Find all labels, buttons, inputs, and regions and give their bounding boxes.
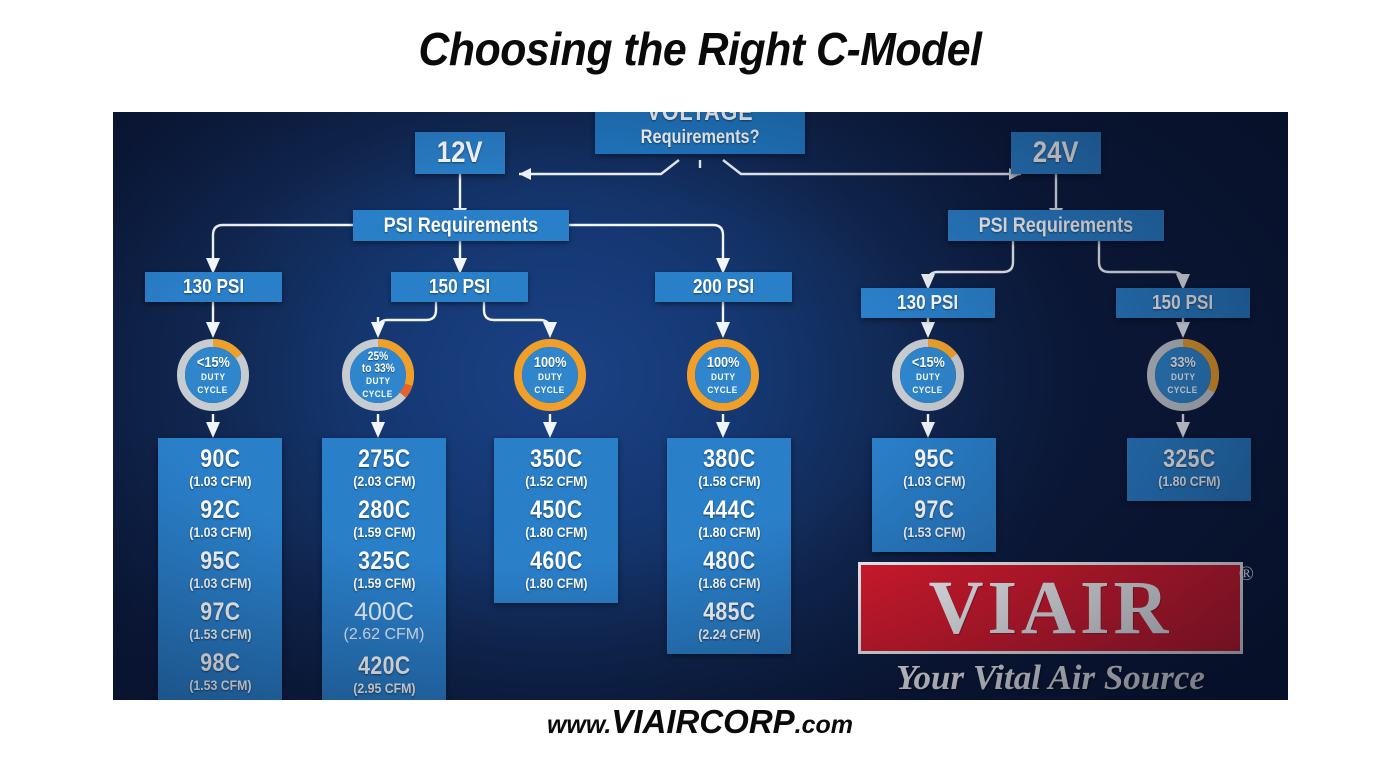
model-cfm: (1.59 CFM): [353, 575, 415, 591]
model-cfm: (1.80 CFM): [525, 524, 587, 540]
model-cfm: (1.03 CFM): [189, 473, 251, 489]
model-name: 95C: [190, 549, 250, 574]
model-name: 90C: [190, 447, 250, 472]
voltage-title: VOLTAGE: [647, 112, 754, 125]
model-cfm: (2.24 CFM): [698, 626, 760, 642]
model-list-200-12v: 380C (1.58 CFM) 444C (1.80 CFM) 480C (1.…: [667, 438, 791, 654]
duty-label-2: CYCLE: [913, 386, 943, 396]
model-name: 400C: [344, 600, 425, 625]
viair-logo: VIAIR ® Your Vital Air Source: [858, 562, 1258, 700]
model-cfm: (1.80 CFM): [1158, 473, 1220, 489]
model-name: 280C: [354, 498, 414, 523]
model-cfm: (1.80 CFM): [525, 575, 587, 591]
model-list-130-24v: 95C (1.03 CFM) 97C (1.53 CFM): [872, 438, 996, 552]
duty-label-1: DUTY: [366, 377, 390, 387]
model-cfm: (1.03 CFM): [903, 473, 965, 489]
duty-percent: 33%: [1170, 355, 1196, 370]
model-cfm: (1.03 CFM): [189, 524, 251, 540]
footer-www: www.: [547, 711, 611, 739]
model-item[interactable]: 450C (1.80 CFM): [521, 498, 592, 540]
model-item[interactable]: 325C (1.59 CFM): [349, 549, 420, 591]
psi-150-24v-label: 150 PSI: [1152, 293, 1213, 313]
logo-red-box: VIAIR ®: [858, 562, 1243, 654]
psi-130-24v-label: 130 PSI: [897, 293, 958, 313]
duty-percent: <15%: [197, 355, 230, 370]
duty-percent: 100%: [707, 355, 740, 370]
duty-inner: 33% DUTY CYCLE: [1155, 347, 1211, 403]
model-name: 450C: [526, 498, 586, 523]
psi-requirements-12v-label: PSI Requirements: [384, 215, 539, 236]
model-cfm: (1.03 CFM): [189, 575, 251, 591]
model-cfm: (2.62 CFM): [344, 626, 425, 644]
model-item[interactable]: 350C (1.52 CFM): [521, 447, 592, 489]
model-cfm: (1.58 CFM): [698, 473, 760, 489]
model-name: 460C: [526, 549, 586, 574]
model-name: 97C: [904, 498, 964, 523]
duty-label-1: DUTY: [916, 373, 940, 383]
model-item[interactable]: 275C (2.03 CFM): [349, 447, 420, 489]
logo-tagline: Your Vital Air Source: [858, 658, 1243, 698]
model-item[interactable]: 325C (1.80 CFM): [1154, 447, 1225, 489]
model-name: 480C: [699, 549, 759, 574]
psi-requirements-24v-label: PSI Requirements: [979, 215, 1134, 236]
model-cfm: (1.52 CFM): [525, 473, 587, 489]
model-name: 444C: [699, 498, 759, 523]
model-cfm: (1.86 CFM): [698, 575, 760, 591]
model-item[interactable]: 95C (1.03 CFM): [185, 549, 256, 591]
duty-inner: 100% DUTY CYCLE: [695, 347, 751, 403]
psi-130-24v[interactable]: 130 PSI: [861, 288, 995, 318]
model-name: 380C: [699, 447, 759, 472]
duty-cycle-150-12v: 25% to 33% DUTY CYCLE: [341, 338, 415, 412]
model-item[interactable]: 420C (2.95 CFM): [349, 654, 420, 696]
model-name: 275C: [354, 447, 414, 472]
model-cfm: (1.59 CFM): [353, 524, 415, 540]
model-item[interactable]: 460C (1.80 CFM): [521, 549, 592, 591]
model-list-150b-12v: 350C (1.52 CFM) 450C (1.80 CFM) 460C (1.…: [494, 438, 618, 603]
model-item[interactable]: 95C (1.03 CFM): [899, 447, 970, 489]
model-cfm: (2.95 CFM): [353, 680, 415, 696]
psi-150-12v-label: 150 PSI: [429, 277, 490, 297]
psi-requirements-24v[interactable]: PSI Requirements: [948, 210, 1164, 241]
model-item[interactable]: 485C (2.24 CFM): [694, 600, 765, 642]
model-name: 325C: [354, 549, 414, 574]
logo-wordmark: VIAIR: [929, 570, 1173, 646]
registered-trademark-icon: ®: [1239, 563, 1254, 586]
node-12v-label: 12V: [437, 138, 483, 168]
model-name: 325C: [1159, 447, 1219, 472]
duty-percent: 100%: [534, 355, 567, 370]
psi-130-12v-label: 130 PSI: [183, 277, 244, 297]
model-item[interactable]: 380C (1.58 CFM): [694, 447, 765, 489]
duty-label-2: CYCLE: [708, 386, 738, 396]
page-title: Choosing the Right C-Model: [49, 22, 1351, 76]
duty-cycle-150-24v: 33% DUTY CYCLE: [1146, 338, 1220, 412]
model-item[interactable]: 480C (1.86 CFM): [694, 549, 765, 591]
voltage-requirements-box[interactable]: VOLTAGE Requirements?: [595, 112, 805, 154]
duty-label-2: CYCLE: [363, 390, 393, 400]
duty-label-1: DUTY: [711, 373, 735, 383]
model-list-150-12v: 275C (2.03 CFM) 280C (1.59 CFM) 325C (1.…: [322, 438, 446, 700]
footer-domain: VIAIRCORP: [611, 703, 794, 740]
node-12v[interactable]: 12V: [415, 132, 505, 174]
duty-cycle-200-12v: 100% DUTY CYCLE: [686, 338, 760, 412]
duty-inner: 100% DUTY CYCLE: [522, 347, 578, 403]
psi-150-24v[interactable]: 150 PSI: [1116, 288, 1250, 318]
duty-inner: 25% to 33% DUTY CYCLE: [350, 347, 406, 403]
psi-150-12v[interactable]: 150 PSI: [391, 272, 528, 302]
duty-percent: <15%: [912, 355, 945, 370]
model-item[interactable]: 98C (1.53 CFM): [185, 651, 256, 693]
model-name: 97C: [190, 600, 250, 625]
model-cfm: (2.03 CFM): [353, 473, 415, 489]
model-cfm: (1.53 CFM): [189, 626, 251, 642]
model-item[interactable]: 97C (1.53 CFM): [185, 600, 256, 642]
flowchart-panel: VOLTAGE Requirements? 12V 24V PSI Requir…: [113, 112, 1288, 700]
model-name: 98C: [190, 651, 250, 676]
duty-label-2: CYCLE: [535, 386, 565, 396]
footer-tld: .com: [795, 711, 853, 739]
model-name: 485C: [699, 600, 759, 625]
duty-inner: <15% DUTY CYCLE: [900, 347, 956, 403]
psi-200-12v-label: 200 PSI: [693, 277, 754, 297]
duty-label-1: DUTY: [538, 373, 562, 383]
model-item[interactable]: 92C (1.03 CFM): [185, 498, 256, 540]
model-name: 420C: [354, 654, 414, 679]
model-item[interactable]: 400C (2.62 CFM): [344, 600, 425, 644]
model-cfm: (1.80 CFM): [698, 524, 760, 540]
model-name: 92C: [190, 498, 250, 523]
node-24v-label: 24V: [1033, 138, 1079, 168]
model-name: 350C: [526, 447, 586, 472]
duty-cycle-150b-12v: 100% DUTY CYCLE: [513, 338, 587, 412]
footer-website[interactable]: www.VIAIRCORP.com: [0, 703, 1400, 741]
duty-label-2: CYCLE: [1168, 386, 1198, 396]
model-cfm: (1.53 CFM): [903, 524, 965, 540]
model-cfm: (1.53 CFM): [189, 677, 251, 693]
duty-label-2: CYCLE: [198, 386, 228, 396]
model-item[interactable]: 97C (1.53 CFM): [899, 498, 970, 540]
duty-cycle-130-24v: <15% DUTY CYCLE: [891, 338, 965, 412]
duty-cycle-130-12v: <15% DUTY CYCLE: [176, 338, 250, 412]
model-list-130-12v: 90C (1.03 CFM) 92C (1.03 CFM) 95C (1.03 …: [158, 438, 282, 700]
duty-label-1: DUTY: [1171, 373, 1195, 383]
duty-percent-line2: to 33%: [362, 362, 395, 374]
model-item[interactable]: 280C (1.59 CFM): [349, 498, 420, 540]
model-item[interactable]: 444C (1.80 CFM): [694, 498, 765, 540]
node-24v[interactable]: 24V: [1011, 132, 1101, 174]
model-item[interactable]: 90C (1.03 CFM): [185, 447, 256, 489]
voltage-subtitle: Requirements?: [641, 128, 760, 147]
duty-inner: <15% DUTY CYCLE: [185, 347, 241, 403]
model-name: 95C: [904, 447, 964, 472]
duty-label-1: DUTY: [201, 373, 225, 383]
psi-200-12v[interactable]: 200 PSI: [655, 272, 792, 302]
psi-130-12v[interactable]: 130 PSI: [145, 272, 282, 302]
model-list-150-24v: 325C (1.80 CFM): [1127, 438, 1251, 501]
psi-requirements-12v[interactable]: PSI Requirements: [353, 210, 569, 241]
